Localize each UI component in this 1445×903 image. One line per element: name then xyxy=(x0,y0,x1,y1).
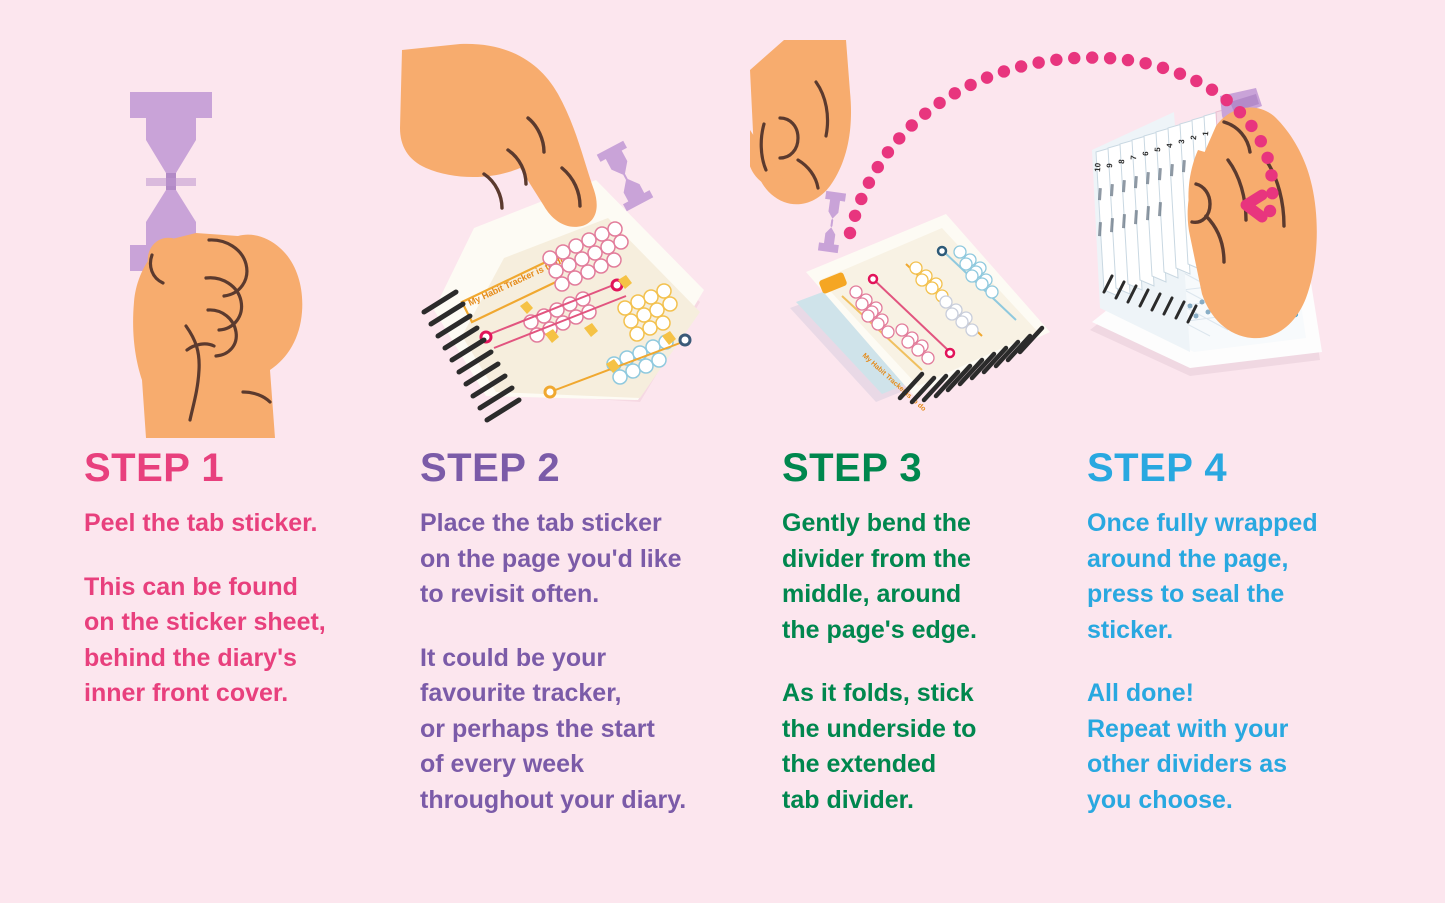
step-3-title: STEP 3 xyxy=(782,448,1102,488)
hand-shape xyxy=(750,40,851,204)
step-2-paragraph-2: It could be your favourite tracker, or p… xyxy=(420,641,770,819)
step-4-illustration: 10 9 8 7 6 5 4 3 2 1 xyxy=(1070,40,1445,440)
step-2-illustration: My Habit Tracker is to do xyxy=(400,40,750,440)
hand-shape xyxy=(400,44,597,227)
step-3-paragraph-1: Gently bend the divider from the middle,… xyxy=(782,506,1102,648)
step-2-paragraph-1: Place the tab sticker on the page you'd … xyxy=(420,506,770,613)
step-4-title: STEP 4 xyxy=(1087,448,1445,488)
step-2-text: STEP 2 Place the tab sticker on the page… xyxy=(400,448,788,818)
hand-placing-sticker-svg: My Habit Tracker is to do xyxy=(400,40,750,440)
step-2-title: STEP 2 xyxy=(420,448,770,488)
hand-shape xyxy=(133,233,302,438)
step-3-illustration: My Habit Tracker is to do xyxy=(750,40,1070,440)
step-3-column: My Habit Tracker is to do xyxy=(750,0,1070,903)
fingers-pressing-sticker-svg: 10 9 8 7 6 5 4 3 2 1 xyxy=(1070,40,1445,440)
step-3-paragraph-2: As it folds, stick the underside to the … xyxy=(782,676,1102,818)
hand-holding-tab-sticker-svg xyxy=(0,40,400,440)
hand-bending-divider-svg: My Habit Tracker is to do xyxy=(750,40,1070,440)
step-4-column: 10 9 8 7 6 5 4 3 2 1 xyxy=(1070,0,1445,903)
step-4-text: STEP 4 Once fully wrapped around the pag… xyxy=(1070,448,1445,818)
step-2-column: My Habit Tracker is to do xyxy=(400,0,750,903)
step-3-text: STEP 3 Gently bend the divider from the … xyxy=(750,448,1116,818)
step-4-paragraph-1: Once fully wrapped around the page, pres… xyxy=(1087,506,1445,648)
svg-text:10: 10 xyxy=(1093,162,1103,172)
instructional-poster: STEP 1 Peel the tab sticker. This can be… xyxy=(0,0,1445,903)
step-1-illustration xyxy=(0,40,400,440)
step-1-column: STEP 1 Peel the tab sticker. This can be… xyxy=(0,0,400,903)
step-4-paragraph-2: All done! Repeat with your other divider… xyxy=(1087,676,1445,818)
purple-tab-sticker xyxy=(818,191,846,253)
